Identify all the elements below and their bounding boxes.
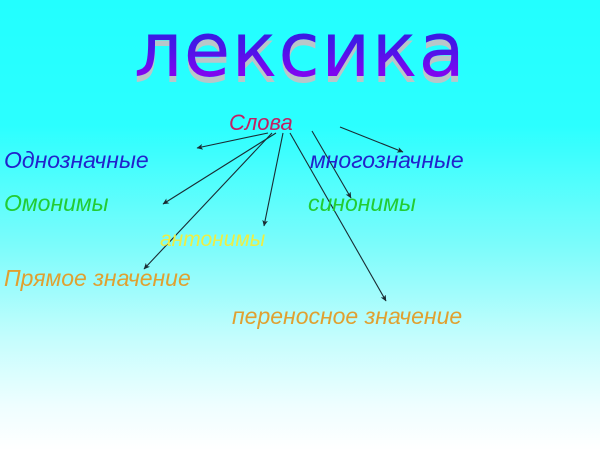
label-sinonimy: синонимы (308, 190, 416, 217)
slide-title: лексика лексика (0, 2, 600, 102)
label-slova: Слова (229, 110, 293, 136)
arrow-to-antonimy (264, 133, 283, 226)
slide-title-text: лексика (0, 2, 600, 98)
slide-canvas: лексика лексика Слова Однозначные многоз… (0, 0, 600, 450)
label-mnogoznachnye: многозначные (310, 147, 464, 174)
label-odnoznachnye: Однозначные (4, 147, 149, 174)
label-pryamoe-znachenie: Прямое значение (4, 265, 191, 292)
label-antonimy: антонимы (160, 228, 265, 252)
label-perenosnoe-znachenie: переносное значение (232, 303, 462, 330)
label-omonimy: Омонимы (4, 190, 109, 217)
arrow-to-omonimy (163, 133, 276, 204)
